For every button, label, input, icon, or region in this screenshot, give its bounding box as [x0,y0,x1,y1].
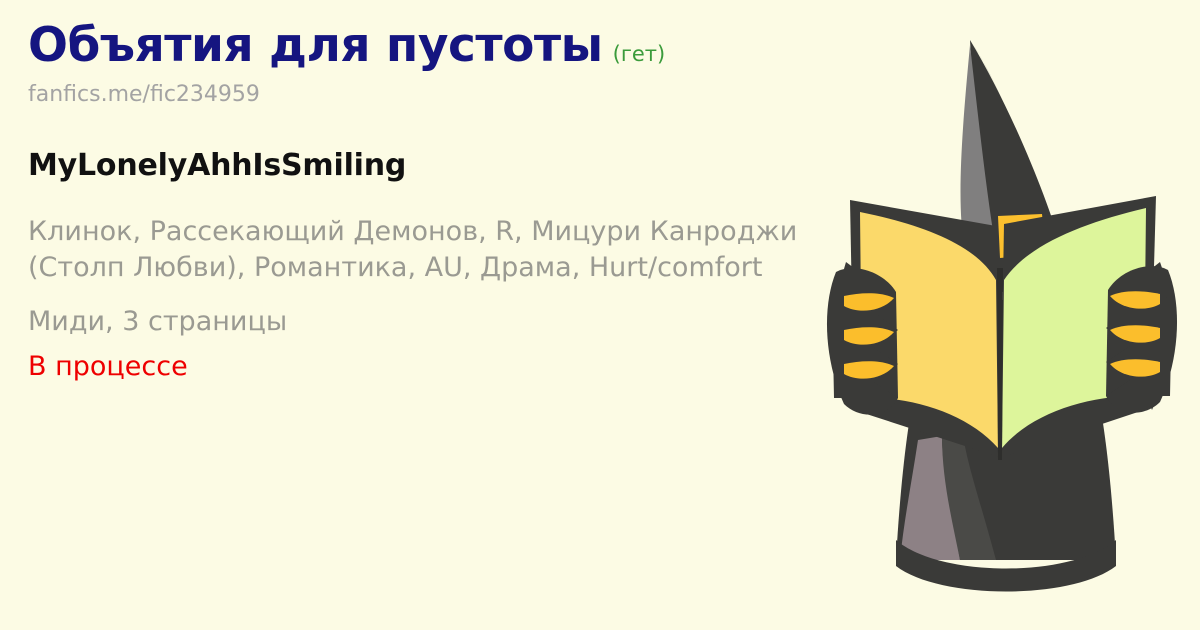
witch-left-hand [827,268,898,415]
author-name[interactable]: MyLonelyAhhIsSmiling [28,148,818,183]
title-row: Объятия для пустоты(гет) [28,22,818,69]
fic-size: Миди, 3 страницы [28,306,818,337]
fic-url[interactable]: fanfics.me/fic234959 [28,82,818,107]
status-badge: В процессе [28,351,818,382]
fic-preview-card: Объятия для пустоты(гет) fanfics.me/fic2… [0,0,1200,630]
witch-right-hand [1106,266,1177,413]
page-title: Объятия для пустоты [28,18,603,73]
fic-category-badge: (гет) [613,42,666,66]
fic-tags: Клинок, Рассекающий Демонов, R, Мицури К… [28,214,818,287]
witch-reading-book-illustration [800,0,1200,630]
text-column: Объятия для пустоты(гет) fanfics.me/fic2… [28,22,818,382]
